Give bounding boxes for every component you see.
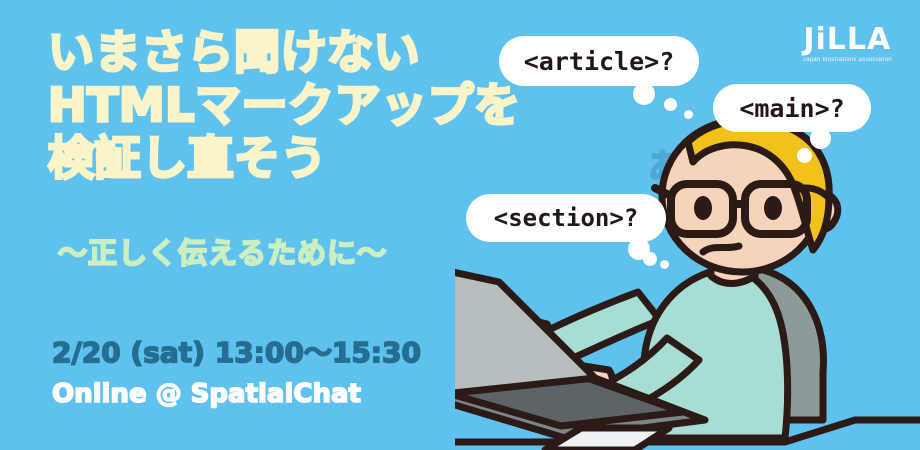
logo-tagline: Japan Illustrations association xyxy=(803,56,892,65)
thought-dot-article-1 xyxy=(633,83,655,105)
thought-bubble-article: <article>? xyxy=(499,36,699,86)
thought-dot-article-3 xyxy=(684,110,693,119)
eye-left xyxy=(694,196,712,220)
illustration-man-at-laptop xyxy=(455,120,920,450)
logo-wordmark: JiLLA xyxy=(803,24,892,56)
thought-dot-main-2 xyxy=(797,148,812,163)
page-title: いまさら聞けない HTMLマークアップを 検証し直そう xyxy=(48,26,520,185)
event-datetime: 2/20 (sat) 13:00〜15:30 xyxy=(52,336,421,370)
thought-dot-section-2 xyxy=(643,252,657,266)
event-venue: Online @ SpatialChat xyxy=(52,378,361,410)
thought-dot-main-1 xyxy=(810,128,831,149)
thought-dot-section-3 xyxy=(660,260,669,269)
thought-bubble-section: <section>? xyxy=(466,194,666,242)
headline-line-1: いまさら聞けない xyxy=(48,26,520,79)
jilla-logo: JiLLA Japan Illustrations association xyxy=(803,24,892,65)
subtitle: 〜正しく伝えるために〜 xyxy=(58,236,387,270)
eye-right xyxy=(764,196,782,220)
poster-canvas: いまさら聞けない HTMLマークアップを 検証し直そう 〜正しく伝えるために〜 … xyxy=(0,0,920,450)
thought-bubble-main: <main>? xyxy=(713,84,871,132)
headline-line-3: 検証し直そう xyxy=(48,132,520,185)
headline-line-2: HTMLマークアップを xyxy=(48,79,520,132)
thought-dot-article-2 xyxy=(664,98,677,111)
